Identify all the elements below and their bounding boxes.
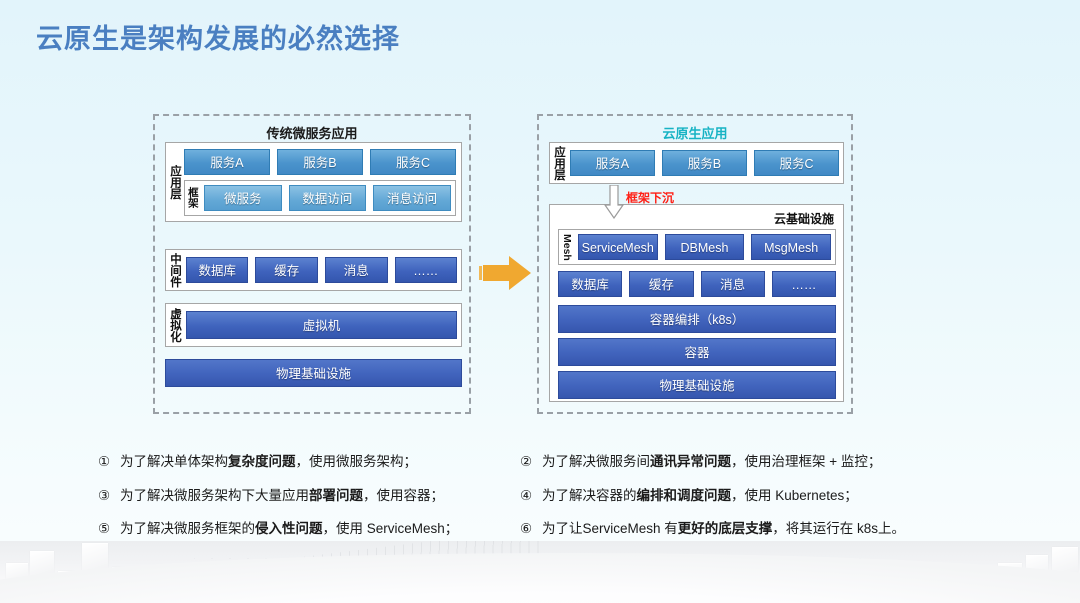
middleware-chip: 数据库 — [186, 257, 249, 283]
middleware-chip: …… — [395, 257, 458, 283]
group-framework: 框架 微服务 数据访问 消息访问 — [184, 180, 456, 216]
group-cloud-infrastructure: 云基础设施 Mesh ServiceMesh DBMesh MsgMesh 数据… — [549, 204, 844, 402]
group-middleware: 中间件 数据库 缓存 消息 …… — [165, 249, 462, 291]
vm-chip: 虚拟机 — [186, 311, 457, 339]
bullet-text: 为了让ServiceMesh 有更好的底层支撑，将其运行在 k8s上。 — [542, 522, 990, 536]
container-orchestration-bar: 容器编排（k8s） — [558, 305, 836, 333]
left-physical-infrastructure-bar: 物理基础设施 — [165, 359, 462, 387]
list-item: ④ 为了解决容器的编排和调度问题，使用 Kubernetes； — [520, 489, 990, 503]
middleware-chip: 消息 — [701, 271, 765, 297]
transition-arrow-icon — [483, 256, 535, 290]
traditional-microservice-panel: 传统微服务应用 应用层 服务A 服务B 服务C 框架 微服务 数据访问 消息访问… — [153, 114, 471, 414]
cloud-infrastructure-title: 云基础设施 — [774, 210, 834, 227]
bullet-number: ① — [98, 455, 120, 469]
bullet-number: ④ — [520, 489, 542, 503]
middleware-chip: 数据库 — [558, 271, 622, 297]
service-chip: 服务C — [370, 149, 456, 175]
bullet-text: 为了解决微服务框架的侵入性问题，使用 ServiceMesh； — [120, 522, 518, 536]
framework-chip: 数据访问 — [289, 185, 367, 211]
bullet-number: ③ — [98, 489, 120, 503]
bullet-text: 为了解决容器的编排和调度问题，使用 Kubernetes； — [542, 489, 990, 503]
group-virtualization: 虚拟化 虚拟机 — [165, 303, 462, 347]
layer-label-mesh: Mesh — [559, 234, 574, 261]
right-physical-infrastructure-bar: 物理基础设施 — [558, 371, 836, 399]
decorative-3d-background — [0, 541, 1080, 603]
bullet-text: 为了解决微服务间通讯异常问题，使用治理框架 + 监控； — [542, 455, 990, 469]
bullet-text: 为了解决单体架构复杂度问题，使用微服务架构； — [120, 455, 518, 469]
group-application-layer: 应用层 服务A 服务B 服务C 框架 微服务 数据访问 消息访问 — [165, 142, 462, 222]
service-chip: 服务C — [754, 150, 839, 176]
middleware-chip: 消息 — [325, 257, 388, 283]
list-item: ⑤ 为了解决微服务框架的侵入性问题，使用 ServiceMesh； — [98, 522, 518, 536]
mesh-chip: DBMesh — [665, 234, 745, 260]
framework-sink-label: 框架下沉 — [626, 189, 674, 206]
middleware-chip: …… — [772, 271, 836, 297]
bullet-text: 为了解决微服务架构下大量应用部署问题，使用容器； — [120, 489, 518, 503]
list-item: ③ 为了解决微服务架构下大量应用部署问题，使用容器； — [98, 489, 518, 503]
layer-label-middleware: 中间件 — [166, 253, 182, 288]
layer-label-virtualization: 虚拟化 — [166, 308, 182, 343]
layer-label-application: 应用层 — [166, 165, 182, 200]
layer-label-framework: 框架 — [185, 187, 200, 208]
framework-sink-arrow-icon — [604, 185, 624, 219]
service-chip: 服务A — [570, 150, 655, 176]
group-cloud-application-layer: 应用层 服务A 服务B 服务C — [549, 142, 844, 184]
list-item: ⑥ 为了让ServiceMesh 有更好的底层支撑，将其运行在 k8s上。 — [520, 522, 990, 536]
framework-chip: 消息访问 — [373, 185, 451, 211]
list-item: ① 为了解决单体架构复杂度问题，使用微服务架构； — [98, 455, 518, 469]
page-title: 云原生是架构发展的必然选择 — [36, 17, 400, 56]
layer-label-application: 应用层 — [550, 146, 566, 181]
group-mesh: Mesh ServiceMesh DBMesh MsgMesh — [558, 229, 836, 265]
left-panel-title: 传统微服务应用 — [155, 123, 469, 142]
middleware-chip: 缓存 — [629, 271, 693, 297]
bullet-number: ⑤ — [98, 522, 120, 536]
service-chip: 服务A — [184, 149, 270, 175]
middleware-chip: 缓存 — [255, 257, 318, 283]
mesh-chip: MsgMesh — [751, 234, 831, 260]
framework-chip: 微服务 — [204, 185, 282, 211]
bullet-number: ⑥ — [520, 522, 542, 536]
container-bar: 容器 — [558, 338, 836, 366]
bullet-number: ② — [520, 455, 542, 469]
service-chip: 服务B — [662, 150, 747, 176]
list-item: ② 为了解决微服务间通讯异常问题，使用治理框架 + 监控； — [520, 455, 990, 469]
right-panel-title: 云原生应用 — [539, 123, 851, 142]
service-chip: 服务B — [277, 149, 363, 175]
cloud-middleware-row: 数据库 缓存 消息 …… — [558, 271, 836, 297]
mesh-chip: ServiceMesh — [578, 234, 658, 260]
cloud-native-panel: 云原生应用 应用层 服务A 服务B 服务C 云基础设施 Mesh Service… — [537, 114, 853, 414]
